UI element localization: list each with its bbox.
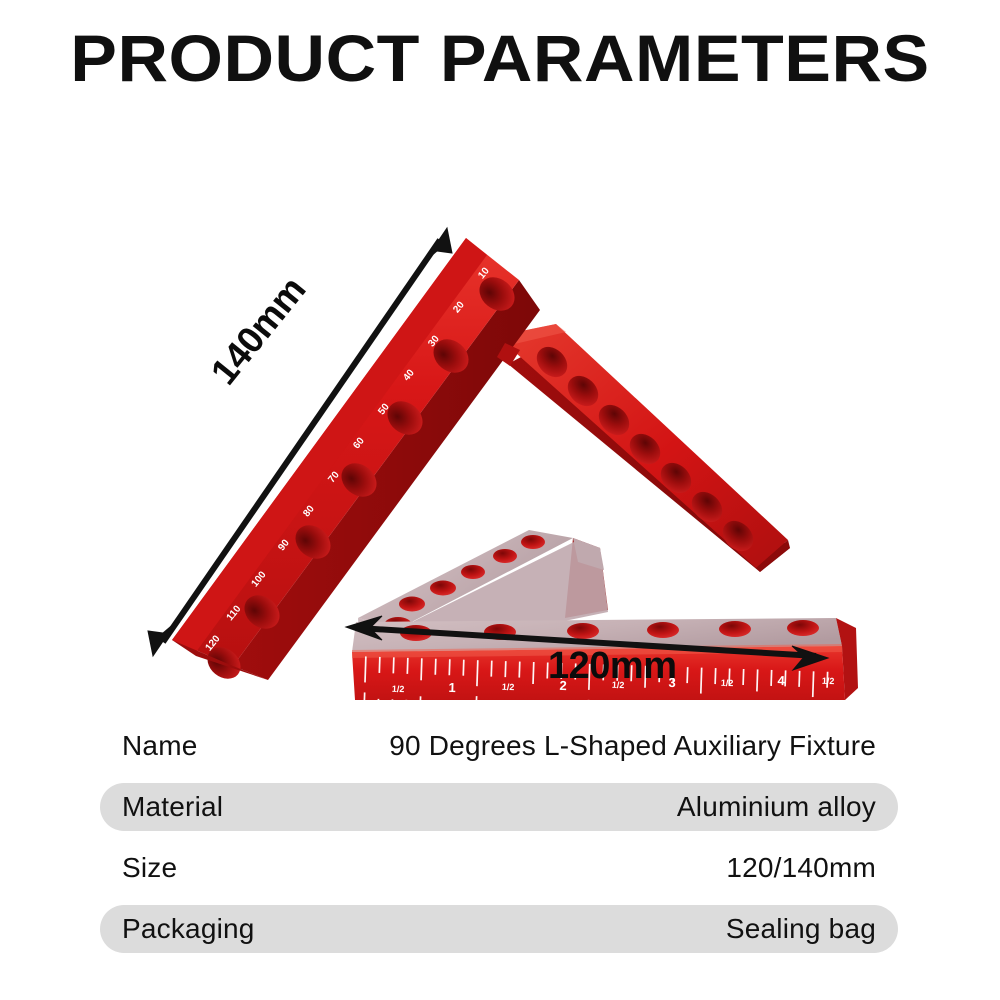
- spec-label-packaging: Packaging: [122, 913, 255, 945]
- spec-value-material: Aluminium alloy: [677, 791, 876, 823]
- spec-value-size: 120/140mm: [726, 852, 876, 884]
- table-row: Material Aluminium alloy: [100, 783, 898, 831]
- svg-text:1: 1: [448, 680, 456, 695]
- spec-label-size: Size: [122, 852, 177, 884]
- svg-text:4: 4: [777, 673, 785, 688]
- spec-label-material: Material: [122, 791, 223, 823]
- spec-value-packaging: Sealing bag: [726, 913, 876, 945]
- product-photo-svg: 10 20 30 40 50 60 70 80 90 100 110 120 1…: [0, 100, 1000, 700]
- svg-text:1/2: 1/2: [721, 678, 734, 688]
- page-title: PRODUCT PARAMETERS: [0, 22, 1000, 94]
- spec-value-name: 90 Degrees L-Shaped Auxiliary Fixture: [389, 730, 876, 762]
- product-illustration: 10 20 30 40 50 60 70 80 90 100 110 120 1…: [0, 100, 1000, 700]
- dimension-label-120mm: 120mm: [548, 645, 676, 688]
- svg-text:1/2: 1/2: [502, 682, 515, 692]
- spec-table: Name 90 Degrees L-Shaped Auxiliary Fixtu…: [100, 722, 898, 966]
- table-row: Name 90 Degrees L-Shaped Auxiliary Fixtu…: [100, 722, 898, 770]
- table-row: Size 120/140mm: [100, 844, 898, 892]
- svg-text:1/2: 1/2: [392, 684, 405, 694]
- svg-text:1/2: 1/2: [822, 676, 835, 686]
- spec-label-name: Name: [122, 730, 198, 762]
- table-row: Packaging Sealing bag: [100, 905, 898, 953]
- svg-text:130: 130: [185, 660, 204, 680]
